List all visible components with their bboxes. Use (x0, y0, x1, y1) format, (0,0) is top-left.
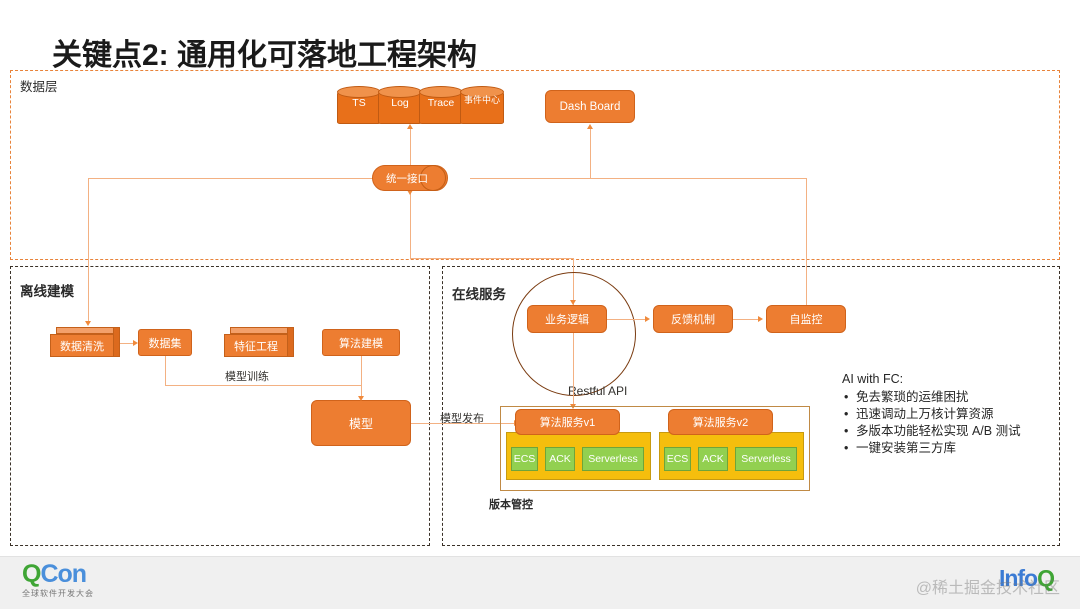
ai-bullet-4: 一键安装第三方库 (842, 440, 1021, 457)
box3d-top (230, 327, 294, 334)
arrow-feedback-to-monitor (758, 316, 763, 322)
connector-right-top (470, 178, 807, 179)
connector-api-down-right (410, 258, 573, 259)
restful-api-label: Restful API (568, 384, 627, 398)
watermark-text: @稀土掘金技术社区 (916, 574, 1060, 598)
service-v2-box[interactable]: 算法服务v2 (668, 409, 773, 435)
region-offline-modeling-label: 离线建模 (20, 280, 74, 300)
restful-api-circle (512, 272, 636, 396)
cylinder-label: Log (378, 98, 422, 109)
connector-api-to-cylinders (410, 126, 411, 166)
connector-logic-to-services (573, 333, 574, 408)
service-v1-box[interactable]: 算法服务v1 (515, 409, 620, 435)
feature-engineering-label: 特征工程 (224, 334, 288, 357)
qcon-logo-con: Con (40, 560, 86, 588)
connector-logic-to-feedback (607, 319, 647, 320)
connector-api-left (88, 178, 385, 179)
dataset-box[interactable]: 数据集 (138, 329, 192, 356)
cylinder-label: TS (337, 98, 381, 109)
box3d-side (287, 327, 294, 357)
training-label: 模型训练 (225, 368, 269, 384)
ai-bullet-2: 迅速调动上万核计算资源 (842, 406, 1021, 423)
arrow-clean-to-dataset (133, 340, 138, 346)
region-data-layer (10, 70, 1060, 260)
cylinder-label: Trace (419, 98, 463, 109)
region-version-control-label: 版本管控 (489, 496, 533, 512)
data-clean-label: 数据清洗 (50, 334, 114, 357)
service-v1-chip-serverless[interactable]: Serverless (582, 447, 644, 471)
box3d-top (56, 327, 120, 334)
box3d-side (113, 327, 120, 357)
connector-dataset-down (165, 356, 166, 385)
connector-left-down (88, 178, 89, 323)
arrow-left-to-clean (85, 321, 91, 326)
connector-algo-down (361, 356, 362, 385)
self-monitor-box[interactable]: 自监控 (766, 305, 846, 333)
service-v2-chip-ecs[interactable]: ECS (664, 447, 691, 471)
page-title: 关键点2: 通用化可落地工程架构 (52, 30, 477, 74)
service-v2-chip-serverless[interactable]: Serverless (735, 447, 797, 471)
ai-with-fc-block: AI with FC: 免去繁琐的运维困扰 迅速调动上万核计算资源 多版本功能轻… (842, 372, 1021, 457)
connector-clean-to-dataset (120, 343, 134, 344)
arrow-logic-to-feedback (645, 316, 650, 322)
model-box[interactable]: 模型 (311, 400, 411, 446)
cylinder-label: 事件中心 (462, 95, 502, 105)
cylinder-trace: Trace (419, 86, 463, 126)
qcon-logo: QCon 全球软件开发大会 (22, 562, 94, 599)
connector-api-down (410, 192, 411, 258)
slide-canvas: 关键点2: 通用化可落地工程架构 数据层 离线建模 在线服务 TS Log Tr… (0, 0, 1080, 608)
qcon-logo-text: QCon (22, 562, 94, 587)
service-v2-chip-ack[interactable]: ACK (698, 447, 728, 471)
ai-bullet-1: 免去繁琐的运维困扰 (842, 389, 1021, 406)
ai-with-fc-title: AI with FC: (842, 372, 1021, 386)
connector-training-path (165, 385, 361, 386)
business-logic-box[interactable]: 业务逻辑 (527, 305, 607, 333)
dash-board-box[interactable]: Dash Board (545, 90, 635, 123)
qcon-logo-subtitle: 全球软件开发大会 (22, 588, 94, 599)
model-publish-label: 模型发布 (440, 410, 484, 426)
arrow-dashboard-up (587, 124, 593, 129)
feedback-mechanism-box[interactable]: 反馈机制 (653, 305, 733, 333)
feature-engineering-box[interactable]: 特征工程 (224, 327, 294, 357)
connector-feedback-to-monitor (733, 319, 760, 320)
service-v1-chip-ecs[interactable]: ECS (511, 447, 538, 471)
connector-right-up (806, 178, 807, 306)
connector-dashboard-down (590, 126, 591, 178)
data-clean-box[interactable]: 数据清洗 (50, 327, 120, 357)
algorithm-modeling-box[interactable]: 算法建模 (322, 329, 400, 356)
arrow-training-to-model (358, 396, 364, 401)
cylinder-log: Log (378, 86, 422, 126)
cylinder-ts: TS (337, 86, 381, 126)
ai-bullet-3: 多版本功能轻松实现 A/B 测试 (842, 423, 1021, 440)
qcon-logo-q: Q (22, 560, 40, 588)
service-v1-chip-ack[interactable]: ACK (545, 447, 575, 471)
unified-api-label: 统一接口 (372, 165, 442, 191)
cylinder-event-center: 事件中心 (460, 86, 504, 126)
region-online-service-label: 在线服务 (452, 283, 506, 303)
region-data-layer-label: 数据层 (20, 76, 58, 95)
